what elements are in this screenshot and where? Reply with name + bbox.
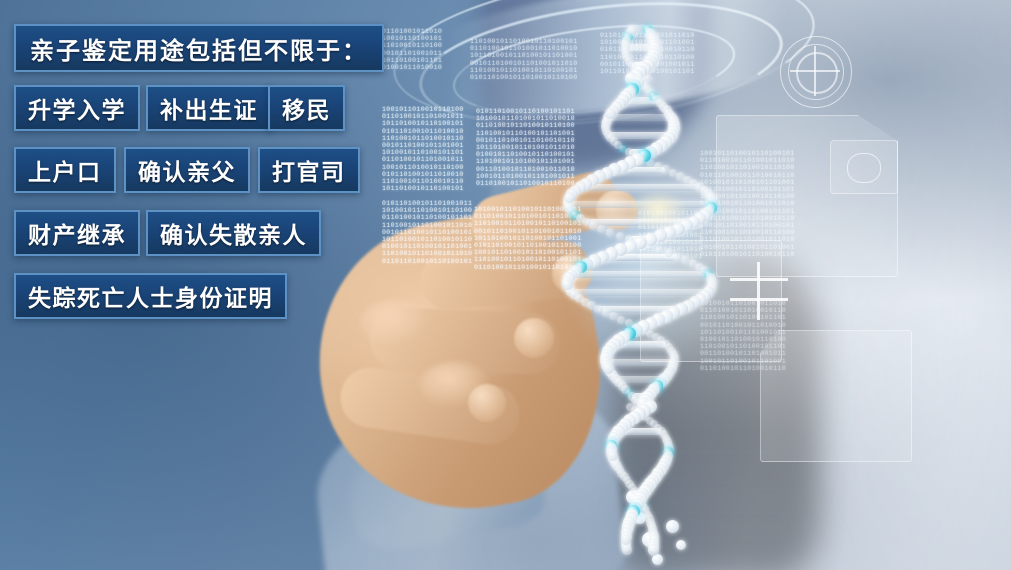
badge-item-8[interactable]: 失踪死亡人士身份证明	[14, 273, 287, 319]
knuckle	[420, 362, 490, 408]
badge-item-4[interactable]: 确认亲父	[124, 147, 250, 193]
badge-item-2[interactable]: 移民	[268, 85, 345, 131]
badge-item-0[interactable]: 升学入学	[14, 85, 140, 131]
dna-double-helix	[530, 20, 750, 570]
badge-item-3[interactable]: 上户口	[14, 147, 116, 193]
knuckle	[360, 300, 430, 346]
badge-item-7[interactable]: 确认失散亲人	[146, 210, 321, 256]
badge-item-5[interactable]: 打官司	[258, 147, 360, 193]
badge-item-1[interactable]: 补出生证	[146, 85, 272, 131]
badge-item-6[interactable]: 财产继承	[14, 210, 140, 256]
poster-root: 01101001011010 10010110100101 1101001011…	[0, 0, 1011, 570]
dna-strand	[530, 20, 750, 570]
poster-title: 亲子鉴定用途包括但不限于：	[14, 24, 384, 72]
